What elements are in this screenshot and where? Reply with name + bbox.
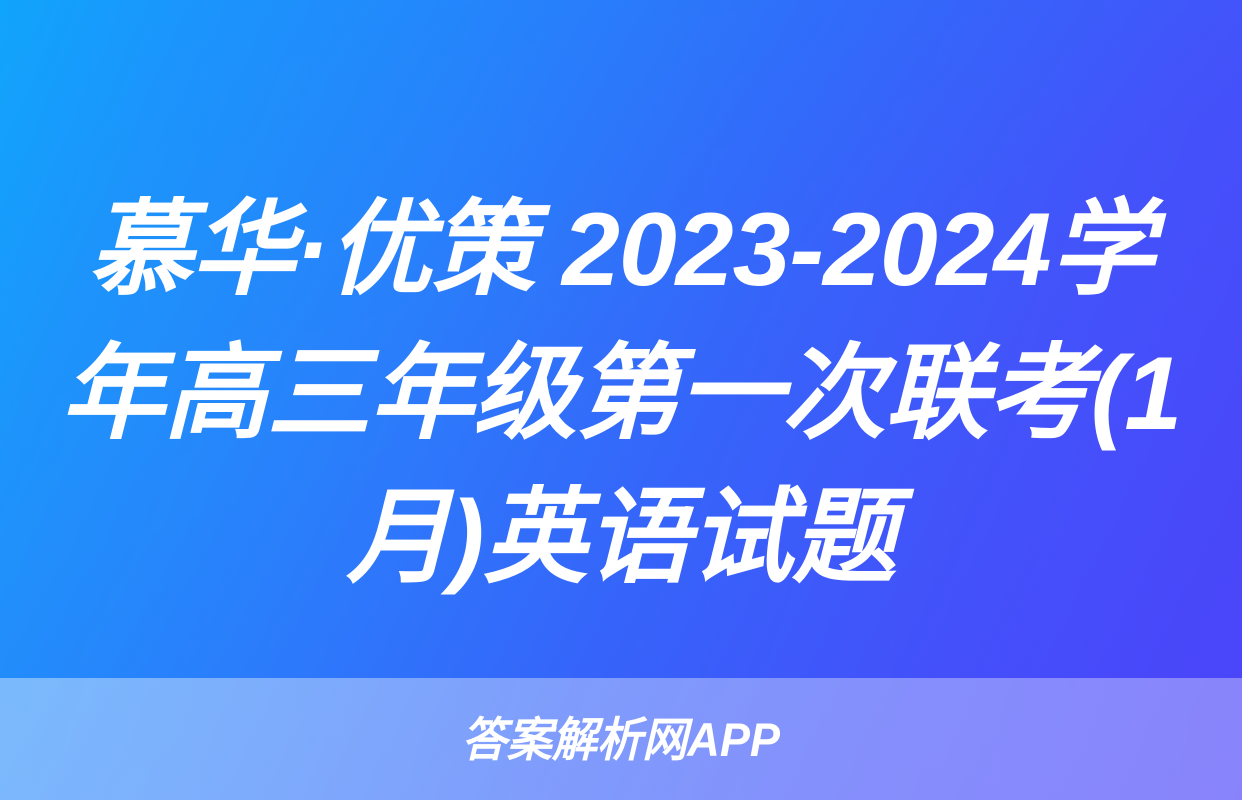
footer-watermark-band: 答案解析网APP [0,678,1242,800]
cover-card: 慕华·优策 2023-2024学年高三年级第一次联考(1月)英语试题 答案解析网… [0,0,1242,800]
page-title: 慕华·优策 2023-2024学年高三年级第一次联考(1月)英语试题 [60,178,1182,610]
watermark-app-label: 答案解析网APP [462,716,780,763]
